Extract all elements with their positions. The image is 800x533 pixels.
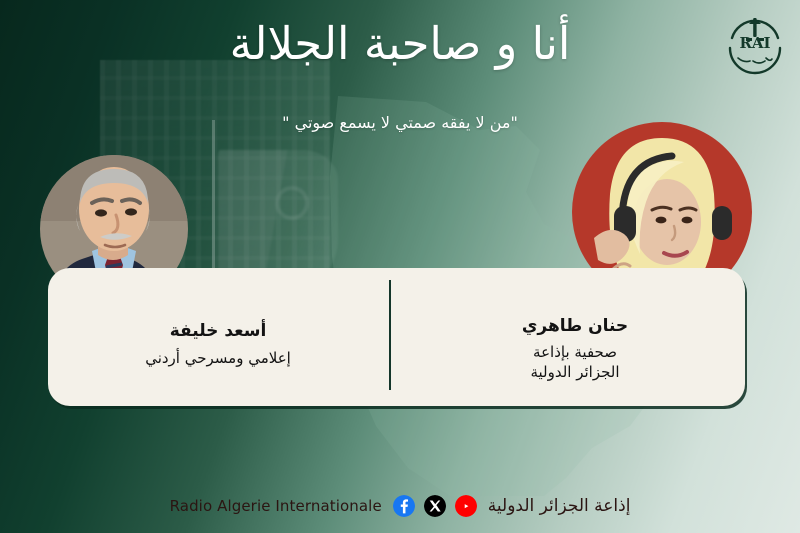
footer-bar: Radio Algerie Internationale <box>0 495 800 517</box>
social-links <box>393 495 477 517</box>
footer-arabic-name: إذاعة الجزائر الدولية <box>488 496 631 516</box>
guest-right-role-line2: الجزائر الدولية <box>405 362 745 382</box>
guest-right-role-line1: صحفية بإذاعة <box>405 342 745 362</box>
poster-canvas: RAI أنا و صاحبة الجلالة "من لا يفقه صمتي… <box>0 0 800 533</box>
x-twitter-icon[interactable] <box>424 495 446 517</box>
guests-card: حنان طاهري صحفية بإذاعة الجزائر الدولية … <box>48 268 745 406</box>
footer-latin-name: Radio Algerie Internationale <box>170 497 382 515</box>
facebook-icon[interactable] <box>393 495 415 517</box>
youtube-icon[interactable] <box>455 495 477 517</box>
guest-right: حنان طاهري صحفية بإذاعة الجزائر الدولية <box>405 268 745 406</box>
card-divider <box>389 280 391 390</box>
guest-left: أسعد خليفة إعلامي ومسرحي أردني <box>48 268 388 406</box>
guest-left-name: أسعد خليفة <box>48 321 388 341</box>
guest-right-role: صحفية بإذاعة الجزائر الدولية <box>405 342 745 383</box>
guest-right-name: حنان طاهري <box>405 316 745 336</box>
page-title: أنا و صاحبة الجلالة <box>0 16 800 72</box>
guest-left-role: إعلامي ومسرحي أردني <box>48 348 388 368</box>
